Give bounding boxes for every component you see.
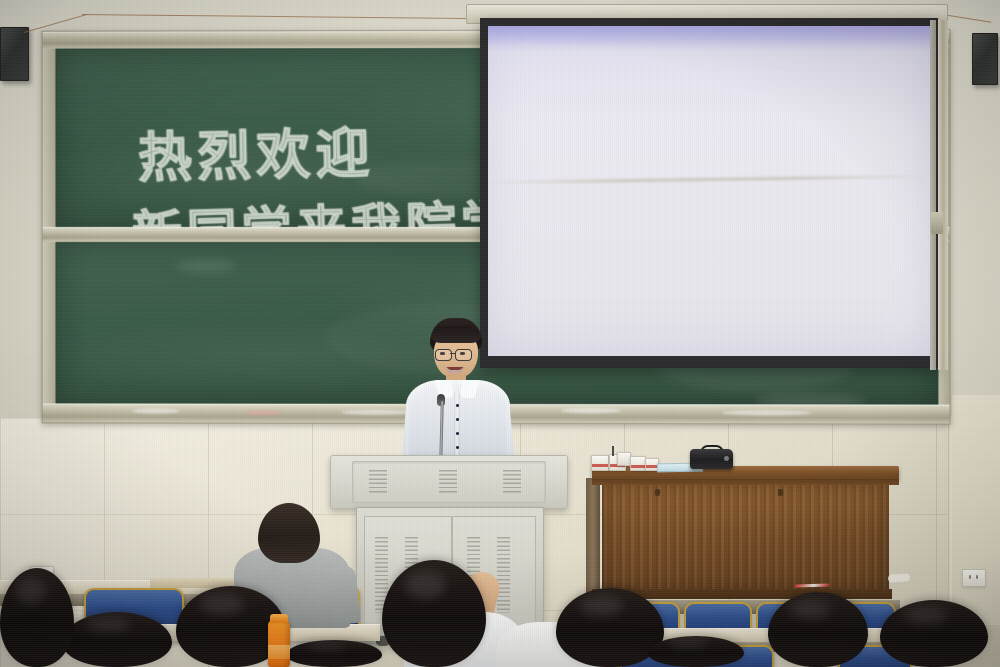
student-head [286,640,382,667]
chalk-box[interactable] [630,456,646,471]
student-head [0,568,74,667]
blackboard-side-left [43,49,57,404]
right-wall-panel [952,395,1000,625]
projection-screen-surface[interactable] [488,26,930,356]
camera-bag[interactable] [690,449,733,469]
presenter-hair-fringe [431,326,481,343]
drink-bottle-cap[interactable] [270,614,288,623]
screen-mount-bracket [931,212,943,234]
drink-bottle[interactable] [268,620,290,667]
shirt-button [456,404,459,407]
glasses-lens-right-icon [455,349,472,361]
chalk-box[interactable] [591,455,609,471]
screen-rail-outer [938,20,948,370]
glasses-lens-left-icon [435,349,452,361]
chalk-box[interactable] [617,452,631,466]
side-table-leg [586,478,600,596]
student-head [880,600,988,667]
marker-pen[interactable] [612,446,614,456]
shirt-button [456,446,459,449]
blackboard-text-line-1: 热烈欢迎 [137,109,375,193]
wall-speaker-right-icon [972,33,998,85]
podium-top-inset [352,461,546,503]
screen-rail-inner [930,20,936,370]
side-table-front-panel [602,485,889,593]
student-head [768,592,868,667]
presenter-shirt-placket [454,392,460,464]
power-outlet-right[interactable] [962,569,986,587]
glasses-bridge-icon [450,353,456,354]
side-table-knob[interactable] [778,489,783,495]
white-desk-item [888,573,911,583]
student-head [62,612,172,667]
drink-bottle-label [268,645,290,659]
lecture-hall-photo: 热烈欢迎 新同学来我院学习深造 [0,0,1000,667]
shirt-button [456,418,459,421]
projector-glow [488,26,930,52]
wall-speaker-left-icon [0,27,29,81]
side-table-knob[interactable] [655,489,660,495]
student-head [648,636,744,667]
presenter [404,318,512,468]
shirt-button [456,432,459,435]
